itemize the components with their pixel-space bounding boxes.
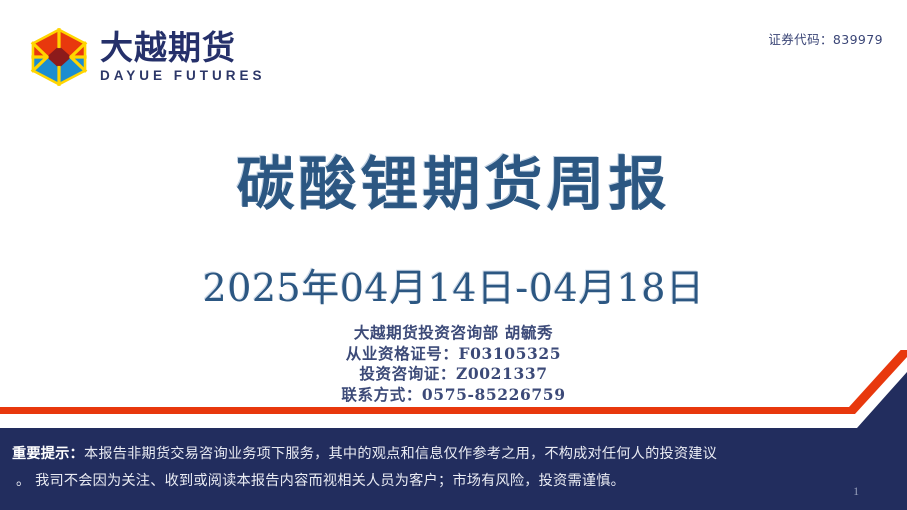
author-department-name: 大越期货投资咨询部 胡毓秀 bbox=[0, 323, 907, 344]
page-title: 碳酸锂期货周报 bbox=[0, 152, 907, 217]
author-qualification-number: 从业资格证号：F03105325 bbox=[0, 344, 907, 365]
disclaimer-text: 重要提示：本报告非期货交易咨询业务项下服务，其中的观点和信息仅作参考之用，不构成… bbox=[12, 441, 896, 495]
disclaimer-line-1-body: 本报告非期货交易咨询业务项下服务，其中的观点和信息仅作参考之用，不构成对任何人的… bbox=[84, 446, 717, 462]
brand-name-cn: 大越期货 bbox=[100, 31, 266, 66]
disclaimer-line-1: 重要提示：本报告非期货交易咨询业务项下服务，其中的观点和信息仅作参考之用，不构成… bbox=[12, 441, 896, 468]
disclaimer-lead-label: 重要提示： bbox=[12, 446, 84, 462]
brand-wordmark: 大越期货 DAYUE FUTURES bbox=[100, 29, 266, 84]
security-code-label: 证券代码：839979 bbox=[768, 29, 883, 48]
brand-name-en: DAYUE FUTURES bbox=[100, 68, 266, 84]
slide-canvas: 大越期货 DAYUE FUTURES 证券代码：839979 碳酸锂期货周报 2… bbox=[0, 0, 907, 510]
slide-header: 大越期货 DAYUE FUTURES 证券代码：839979 bbox=[0, 0, 907, 118]
disclaimer-line-2: 。 我司不会因为关注、收到或阅读本报告内容而视相关人员为客户；市场有风险，投资需… bbox=[12, 468, 896, 495]
author-consulting-license: 投资咨询证：Z0021337 bbox=[0, 364, 907, 385]
page-number: 1 bbox=[853, 486, 859, 498]
author-contact-phone: 联系方式：0575-85226759 bbox=[0, 385, 907, 406]
author-info-block: 大越期货投资咨询部 胡毓秀 从业资格证号：F03105325 投资咨询证：Z00… bbox=[0, 323, 907, 405]
dayue-hexagon-cube-logo-icon bbox=[28, 26, 90, 88]
report-date-range: 2025年04月14日-04月18日 bbox=[0, 266, 907, 311]
disclaimer-footer-bar: 重要提示：本报告非期货交易咨询业务项下服务，其中的观点和信息仅作参考之用，不构成… bbox=[0, 432, 907, 510]
brand-lockup: 大越期货 DAYUE FUTURES bbox=[28, 26, 266, 88]
